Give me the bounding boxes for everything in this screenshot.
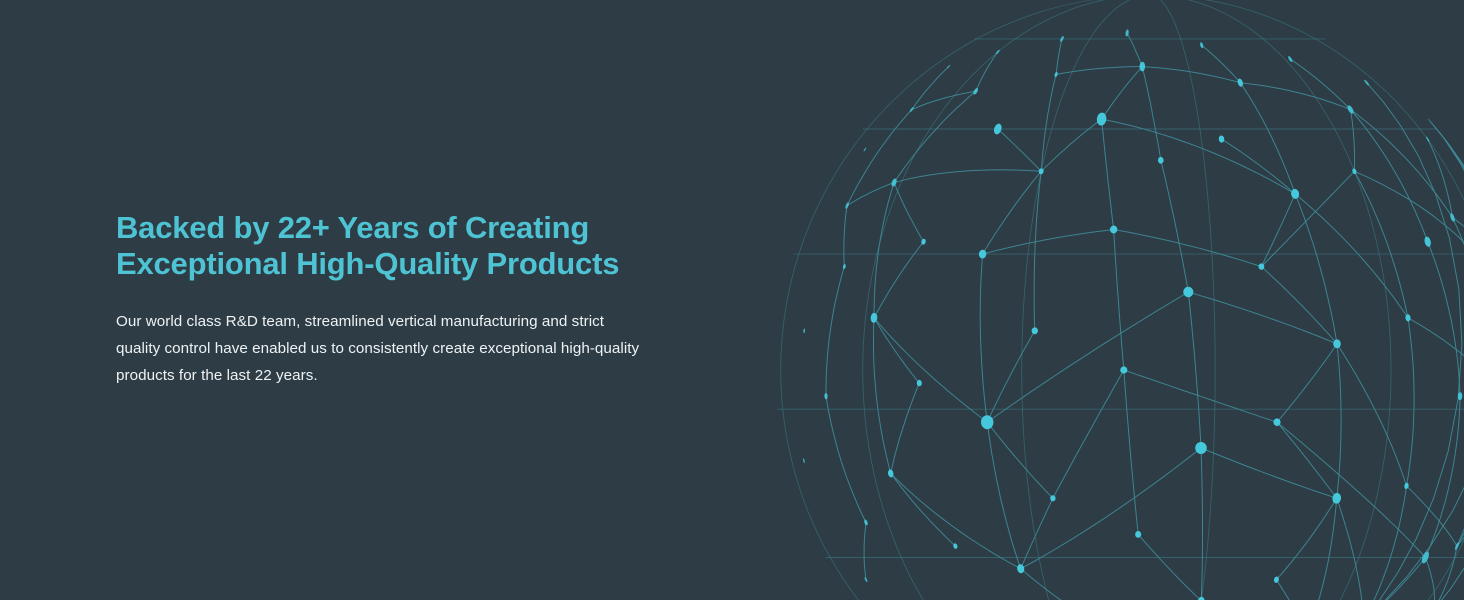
hero-section: Backed by 22+ Years of Creating Exceptio… xyxy=(0,0,1464,600)
page-title: Backed by 22+ Years of Creating Exceptio… xyxy=(116,210,656,282)
hero-description: Our world class R&D team, streamlined ve… xyxy=(116,282,641,389)
network-nodes xyxy=(803,29,1464,600)
hero-text-block: Backed by 22+ Years of Creating Exceptio… xyxy=(116,210,656,389)
network-globe-graphic xyxy=(740,0,1464,600)
network-globe-svg xyxy=(740,0,1464,600)
network-links xyxy=(826,33,1464,600)
globe-grid-lines xyxy=(777,0,1464,600)
